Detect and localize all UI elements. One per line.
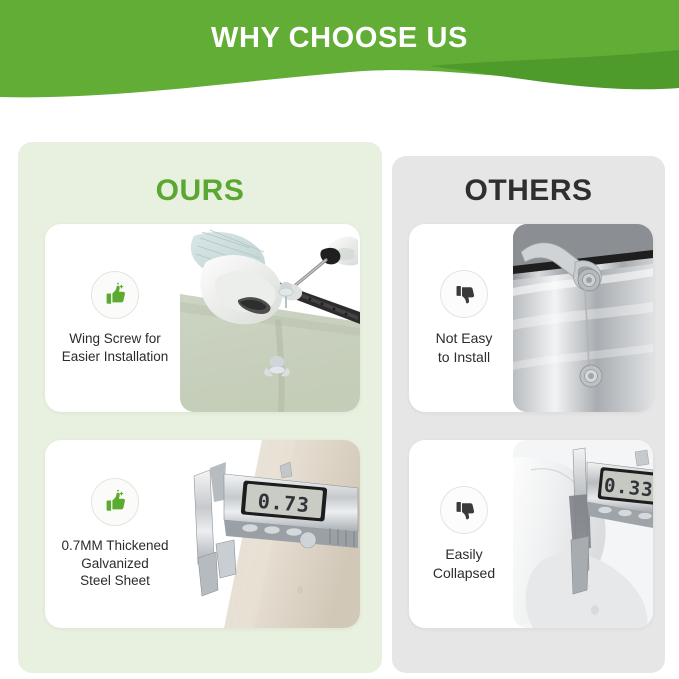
card-label-line: to Install bbox=[436, 348, 493, 366]
card-label: Easily Collapsed bbox=[433, 545, 495, 581]
others-column-heading: OTHERS bbox=[392, 174, 665, 208]
card-label: Not Easy to Install bbox=[436, 329, 493, 365]
card-label-line: Collapsed bbox=[433, 564, 495, 582]
card-text-side: Wing Screw for Easier Installation bbox=[45, 224, 185, 412]
thumbs-down-icon bbox=[440, 270, 488, 318]
card-label: 0.7MM Thickened Galvanized Steel Sheet bbox=[61, 537, 168, 590]
header-banner: WHY CHOOSE US bbox=[0, 0, 679, 105]
caliper-reading-ours: 0.73 bbox=[257, 489, 311, 517]
card-label: Wing Screw for Easier Installation bbox=[62, 330, 169, 365]
card-label-line: Easier Installation bbox=[62, 348, 169, 366]
ours-column-heading: OURS bbox=[18, 174, 382, 208]
thumbs-up-icon bbox=[91, 478, 139, 526]
feature-card-thickened-steel: 0.7MM Thickened Galvanized Steel Sheet bbox=[45, 440, 360, 628]
caliper-measuring-thin-sheet-photo: 0.33 bbox=[513, 440, 653, 628]
page-title: WHY CHOOSE US bbox=[0, 22, 679, 55]
thumbs-down-icon bbox=[440, 486, 488, 534]
wrench-on-bolt-photo bbox=[513, 224, 653, 412]
card-label-line: Not Easy bbox=[436, 329, 493, 347]
drawback-card-not-easy-to-install: Not Easy to Install bbox=[409, 224, 653, 412]
card-text-side: Not Easy to Install bbox=[409, 224, 519, 412]
gloved-hands-installing-wing-screw-photo bbox=[180, 224, 360, 412]
card-label-line: Galvanized bbox=[61, 555, 168, 573]
drawback-card-easily-collapsed: Easily Collapsed bbox=[409, 440, 653, 628]
card-label-line: Steel Sheet bbox=[61, 572, 168, 590]
thumbs-up-icon bbox=[91, 271, 139, 319]
card-label-line: Easily bbox=[433, 545, 495, 563]
card-label-line: 0.7MM Thickened bbox=[61, 537, 168, 555]
card-label-line: Wing Screw for bbox=[62, 330, 169, 348]
caliper-measuring-steel-sheet-photo: 0.73 bbox=[180, 440, 360, 628]
feature-card-wing-screw: Wing Screw for Easier Installation bbox=[45, 224, 360, 412]
card-text-side: Easily Collapsed bbox=[409, 440, 519, 628]
card-text-side: 0.7MM Thickened Galvanized Steel Sheet bbox=[45, 440, 185, 628]
